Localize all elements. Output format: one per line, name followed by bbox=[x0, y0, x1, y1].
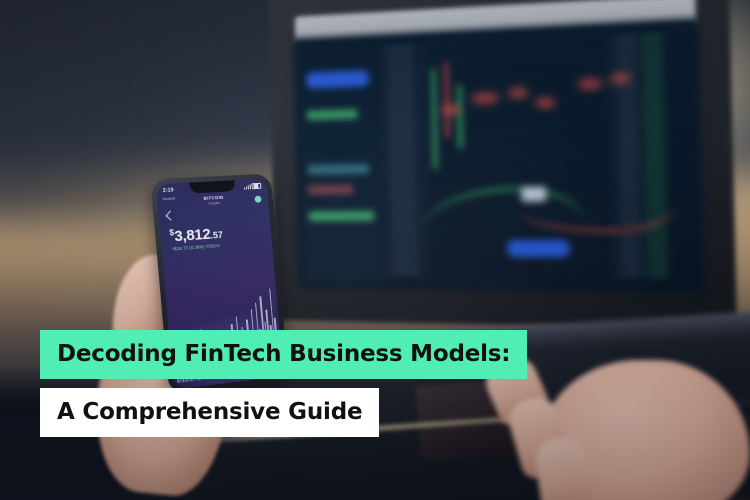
dashboard-candle bbox=[458, 85, 463, 148]
dashboard-divider bbox=[421, 43, 427, 282]
back-chevron-icon[interactable] bbox=[165, 211, 175, 221]
dashboard-candle bbox=[432, 69, 437, 169]
status-bar-time: 3:19 bbox=[163, 188, 174, 194]
subtitle-banner: A Comprehensive Guide bbox=[40, 388, 379, 437]
dashboard-marker bbox=[508, 87, 528, 99]
dashboard-marker bbox=[471, 92, 500, 105]
dashboard-primary-button bbox=[306, 70, 369, 89]
dashboard-row bbox=[308, 185, 353, 195]
title-text: Decoding FinTech Business Models: bbox=[57, 343, 510, 366]
title-banner: Decoding FinTech Business Models: bbox=[40, 330, 527, 379]
battery-icon bbox=[251, 183, 261, 190]
dashboard-secondary-button bbox=[507, 240, 570, 257]
dashboard-candle bbox=[444, 62, 449, 137]
dashboard-order-book-green bbox=[641, 36, 668, 278]
dashboard-row bbox=[308, 164, 369, 174]
price-decimal: .57 bbox=[210, 230, 223, 241]
dashboard-tooltip bbox=[521, 187, 546, 202]
hero-banner: 3:19 Search BITCOIN Crypto $3,812.57 + bbox=[0, 0, 750, 500]
dashboard-order-book bbox=[387, 47, 419, 275]
dashboard-marker bbox=[535, 96, 555, 108]
laptop-screen-trading-dashboard bbox=[293, 18, 704, 293]
status-bar-icons bbox=[244, 183, 262, 190]
subtitle-text: A Comprehensive Guide bbox=[57, 401, 362, 424]
laptop bbox=[269, 0, 737, 330]
signal-icon bbox=[244, 184, 251, 189]
dashboard-row bbox=[309, 211, 374, 221]
price-whole: 3,812 bbox=[174, 226, 212, 246]
dashboard-marker bbox=[577, 77, 603, 90]
dashboard-divider bbox=[609, 34, 616, 284]
dashboard-row bbox=[307, 109, 358, 120]
